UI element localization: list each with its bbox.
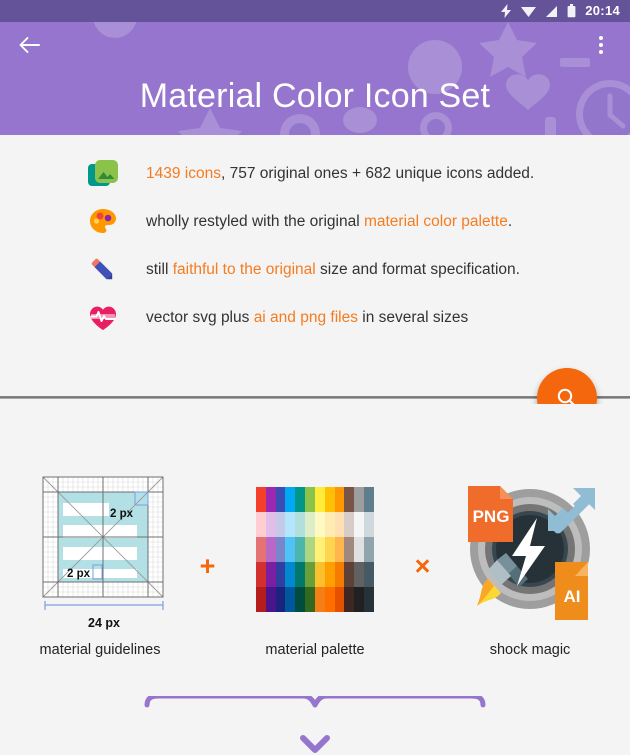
feature-highlight: 1439 icons — [146, 165, 221, 182]
palette-swatch — [295, 562, 305, 587]
palette-swatch — [305, 562, 315, 587]
palette-swatch — [266, 562, 276, 587]
palette-swatch — [295, 587, 305, 612]
feature-plain: wholly restyled with the original — [146, 213, 364, 230]
palette-swatch — [266, 512, 276, 537]
ingredient-label: material palette — [265, 642, 364, 658]
operator-plus: + — [188, 491, 228, 641]
list-item-text: still faithful to the original size and … — [146, 260, 520, 280]
back-button[interactable] — [14, 29, 46, 61]
ingredient-shock-magic: PNG AI shock magic — [443, 474, 618, 658]
list-item-text: 1439 icons, 757 original ones + 682 uniq… — [146, 164, 534, 184]
palette-swatch — [285, 587, 295, 612]
operator-times: × — [403, 491, 443, 641]
curly-brace-down — [147, 696, 483, 705]
feature-list: 1439 icons, 757 original ones + 682 uniq… — [0, 150, 630, 342]
palette-swatch — [305, 512, 315, 537]
list-item: 1439 icons, 757 original ones + 682 uniq… — [0, 150, 630, 198]
status-bar: 20:14 — [0, 0, 630, 22]
overflow-dot — [599, 50, 603, 54]
palette-swatch — [276, 512, 286, 537]
list-item: vector svg plus ai and png files in seve… — [0, 294, 630, 342]
palette-swatch — [335, 537, 345, 562]
palette-swatch — [315, 512, 325, 537]
palette-swatch — [295, 512, 305, 537]
battery-icon — [567, 4, 576, 18]
palette-swatch — [305, 487, 315, 512]
palette-swatch — [344, 512, 354, 537]
palette-swatch — [276, 562, 286, 587]
palette-swatch — [276, 537, 286, 562]
wifi-icon — [521, 5, 536, 18]
shock-magic-graphic: PNG AI — [455, 474, 605, 624]
palette-swatch — [295, 487, 305, 512]
palette-swatch — [364, 537, 374, 562]
feature-highlight: faithful to the original — [173, 261, 316, 278]
palette-swatch — [364, 487, 374, 512]
palette-swatch — [315, 487, 325, 512]
palette-swatch — [276, 587, 286, 612]
page-title: Material Color Icon Set — [0, 77, 630, 116]
palette-swatch — [256, 512, 266, 537]
palette-swatch — [325, 562, 335, 587]
palette-swatch — [354, 562, 364, 587]
palette-swatch — [285, 512, 295, 537]
ingredient-label: shock magic — [490, 642, 571, 658]
palette-swatch — [325, 537, 335, 562]
palette-swatch — [335, 587, 345, 612]
palette-swatch — [315, 537, 325, 562]
ai-badge-label: AI — [564, 587, 581, 606]
palette-swatch — [354, 487, 364, 512]
feature-highlight: ai and png files — [254, 309, 358, 326]
list-item-text: vector svg plus ai and png files in seve… — [146, 308, 468, 328]
palette-swatch — [325, 587, 335, 612]
palette-swatch — [266, 587, 276, 612]
palette-swatch — [256, 587, 266, 612]
feature-plain: in several sizes — [358, 309, 468, 326]
brace-group — [0, 696, 630, 755]
palette-swatch — [325, 512, 335, 537]
ingredients-section: 2 px 2 px 24 px material guidelines + ma… — [0, 404, 630, 755]
palette-swatch — [285, 562, 295, 587]
palette-swatch — [344, 537, 354, 562]
palette-swatch — [305, 587, 315, 612]
pencil-icon — [86, 253, 120, 287]
feature-plain: , 757 original ones + 682 unique icons a… — [221, 165, 534, 182]
palette-swatch — [285, 487, 295, 512]
feature-plain: still — [146, 261, 173, 278]
palette-swatch — [266, 487, 276, 512]
color-palette-swatches — [256, 474, 374, 624]
svg-text:2 px: 2 px — [110, 508, 134, 520]
svg-text:2 px: 2 px — [67, 568, 91, 580]
overflow-menu-button[interactable] — [586, 28, 616, 62]
palette-swatch — [315, 587, 325, 612]
palette-swatch — [335, 487, 345, 512]
palette-swatch — [256, 487, 266, 512]
chevron-down-icon — [303, 738, 327, 750]
palette-swatch — [256, 562, 266, 587]
palette-swatch — [364, 512, 374, 537]
charging-bolt-icon — [501, 4, 512, 18]
feature-highlight: material color palette — [364, 213, 508, 230]
list-item-text: wholly restyled with the original materi… — [146, 212, 512, 232]
overflow-dot — [599, 36, 603, 40]
palette-swatch — [295, 537, 305, 562]
palette-icon — [86, 205, 120, 239]
palette-swatch — [325, 487, 335, 512]
ingredient-material-guidelines: 2 px 2 px 24 px material guidelines — [13, 474, 188, 658]
palette-swatch — [364, 587, 374, 612]
feature-plain: size and format specification. — [316, 261, 520, 278]
palette-swatch — [344, 562, 354, 587]
list-item: wholly restyled with the original materi… — [0, 198, 630, 246]
ingredient-material-palette: material palette — [228, 474, 403, 658]
palette-swatch — [335, 562, 345, 587]
palette-swatch — [276, 487, 286, 512]
palette-swatch — [354, 537, 364, 562]
signal-icon — [545, 5, 558, 18]
palette-swatch — [335, 512, 345, 537]
keyline-grid-diagram: 2 px 2 px 24 px — [31, 474, 169, 624]
heart-pulse-icon — [86, 301, 120, 335]
list-item: still faithful to the original size and … — [0, 246, 630, 294]
image-stack-icon — [86, 157, 120, 191]
back-arrow-icon — [18, 35, 42, 55]
palette-swatch — [344, 487, 354, 512]
palette-swatch — [266, 537, 276, 562]
feature-plain: . — [508, 213, 512, 230]
palette-grid — [256, 487, 374, 612]
palette-swatch — [354, 512, 364, 537]
app-screen: 20:14 — [0, 0, 630, 755]
palette-swatch — [364, 562, 374, 587]
feature-plain: vector svg plus — [146, 309, 254, 326]
app-bar-actions — [0, 22, 630, 68]
palette-swatch — [344, 587, 354, 612]
palette-swatch — [256, 537, 266, 562]
section-divider — [0, 396, 630, 399]
ingredients-row: 2 px 2 px 24 px material guidelines + ma… — [0, 474, 630, 658]
ingredient-label: material guidelines — [40, 642, 161, 658]
palette-swatch — [315, 562, 325, 587]
app-bar: Material Color Icon Set — [0, 22, 630, 135]
svg-text:24 px: 24 px — [88, 616, 120, 630]
palette-swatch — [354, 587, 364, 612]
overflow-dot — [599, 43, 603, 47]
png-badge-label: PNG — [473, 507, 510, 526]
palette-swatch — [305, 537, 315, 562]
status-clock: 20:14 — [585, 0, 620, 22]
palette-swatch — [285, 537, 295, 562]
